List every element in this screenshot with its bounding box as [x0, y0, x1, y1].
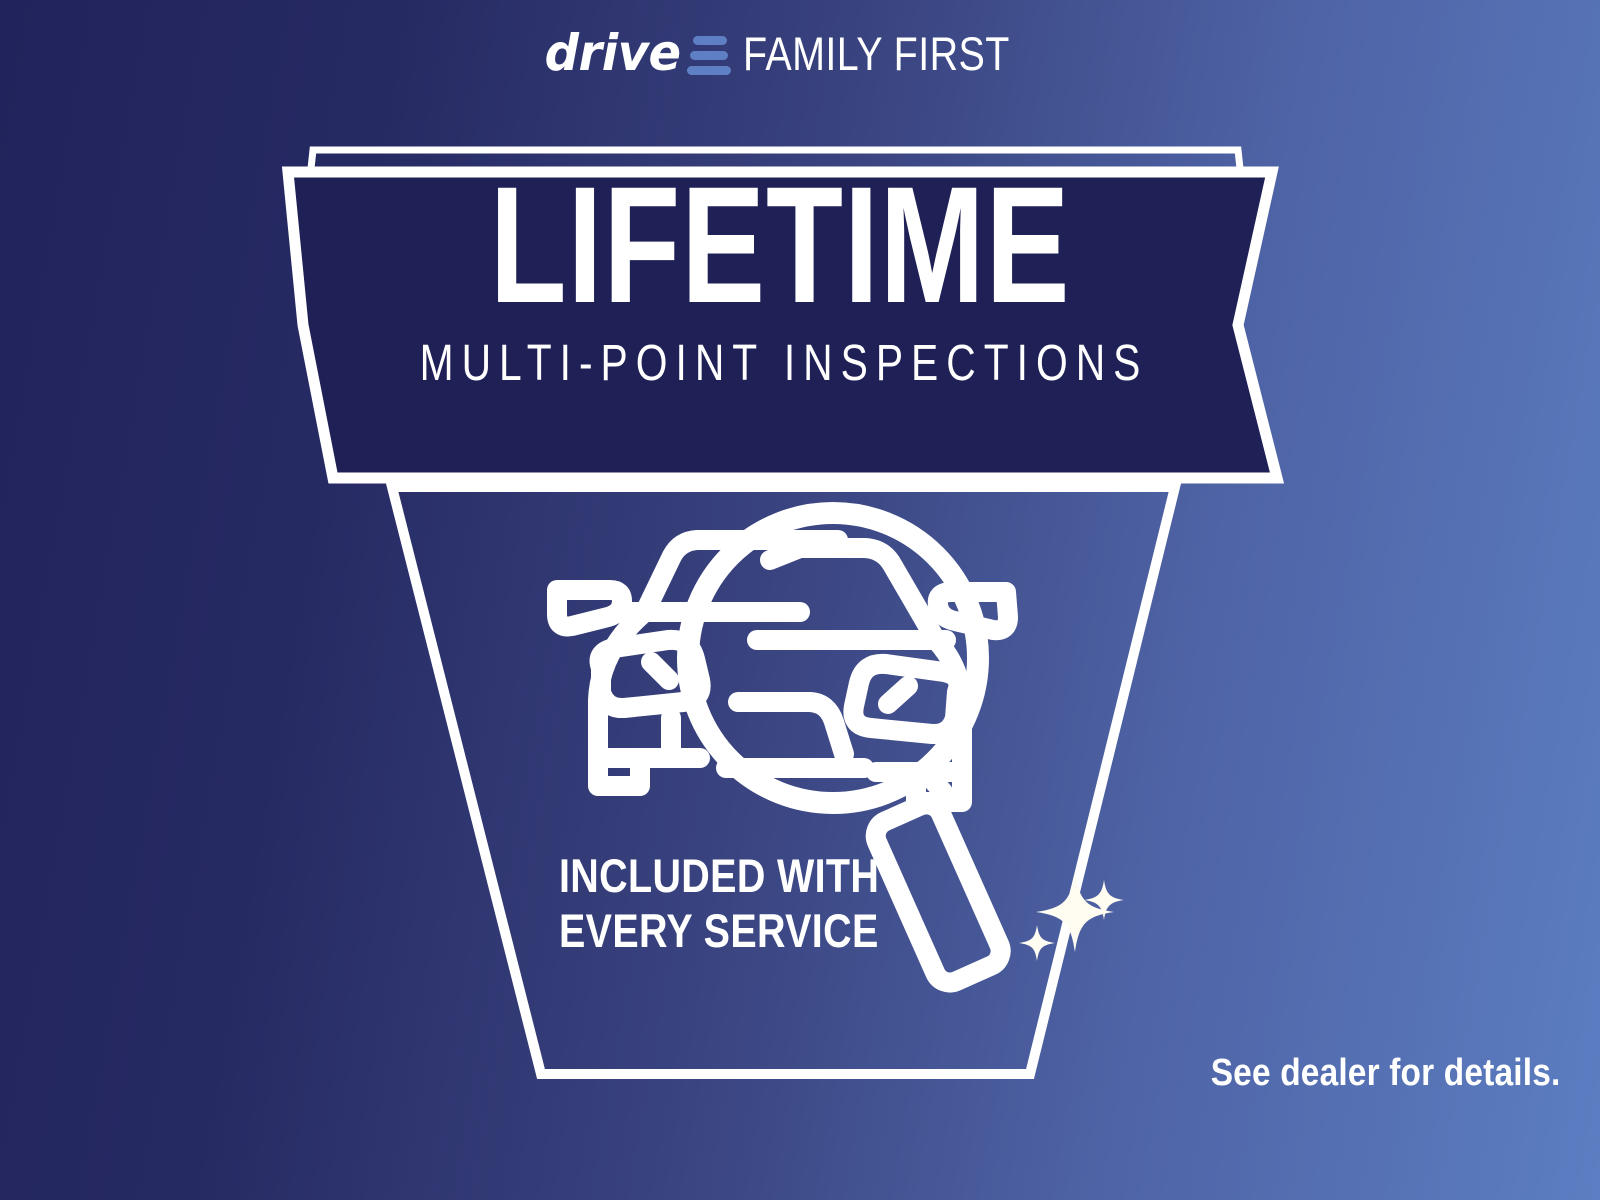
banner-subtitle: MULTI-POINT INSPECTIONS [396, 337, 1164, 388]
sparkle-icon [1019, 872, 1124, 961]
included-line-1: INCLUDED WITH [559, 848, 879, 903]
magnifying-glass-icon [688, 513, 978, 803]
banner-backplate-outline [308, 150, 1243, 196]
included-copy: INCLUDED WITH EVERY SERVICE [559, 848, 879, 959]
disclaimer-text: See dealer for details. [1210, 1052, 1560, 1095]
car-front-icon [557, 540, 838, 786]
banner-title: LIFETIME [415, 170, 1145, 323]
magnifier-handle [929, 776, 943, 792]
inspection-illustration [557, 513, 1008, 988]
car-front-icon-magnified [726, 548, 1008, 802]
crest-trapezoid-outline [392, 487, 1175, 1074]
promo-graphic: drive FAMILY FIRST [0, 0, 1600, 1200]
brand-wordmark: drive [545, 28, 681, 78]
banner-ribbon [288, 172, 1277, 478]
banner-text: LIFETIME MULTI-POINT INSPECTIONS [300, 170, 1260, 388]
brand-tagline: FAMILY FIRST [743, 30, 1010, 77]
list-bars-icon [687, 32, 731, 75]
included-line-2: EVERY SERVICE [559, 903, 879, 958]
brand-logo: drive FAMILY FIRST [0, 28, 1600, 78]
magnifier-grip [871, 799, 1006, 987]
crest-artwork [0, 0, 1600, 1200]
